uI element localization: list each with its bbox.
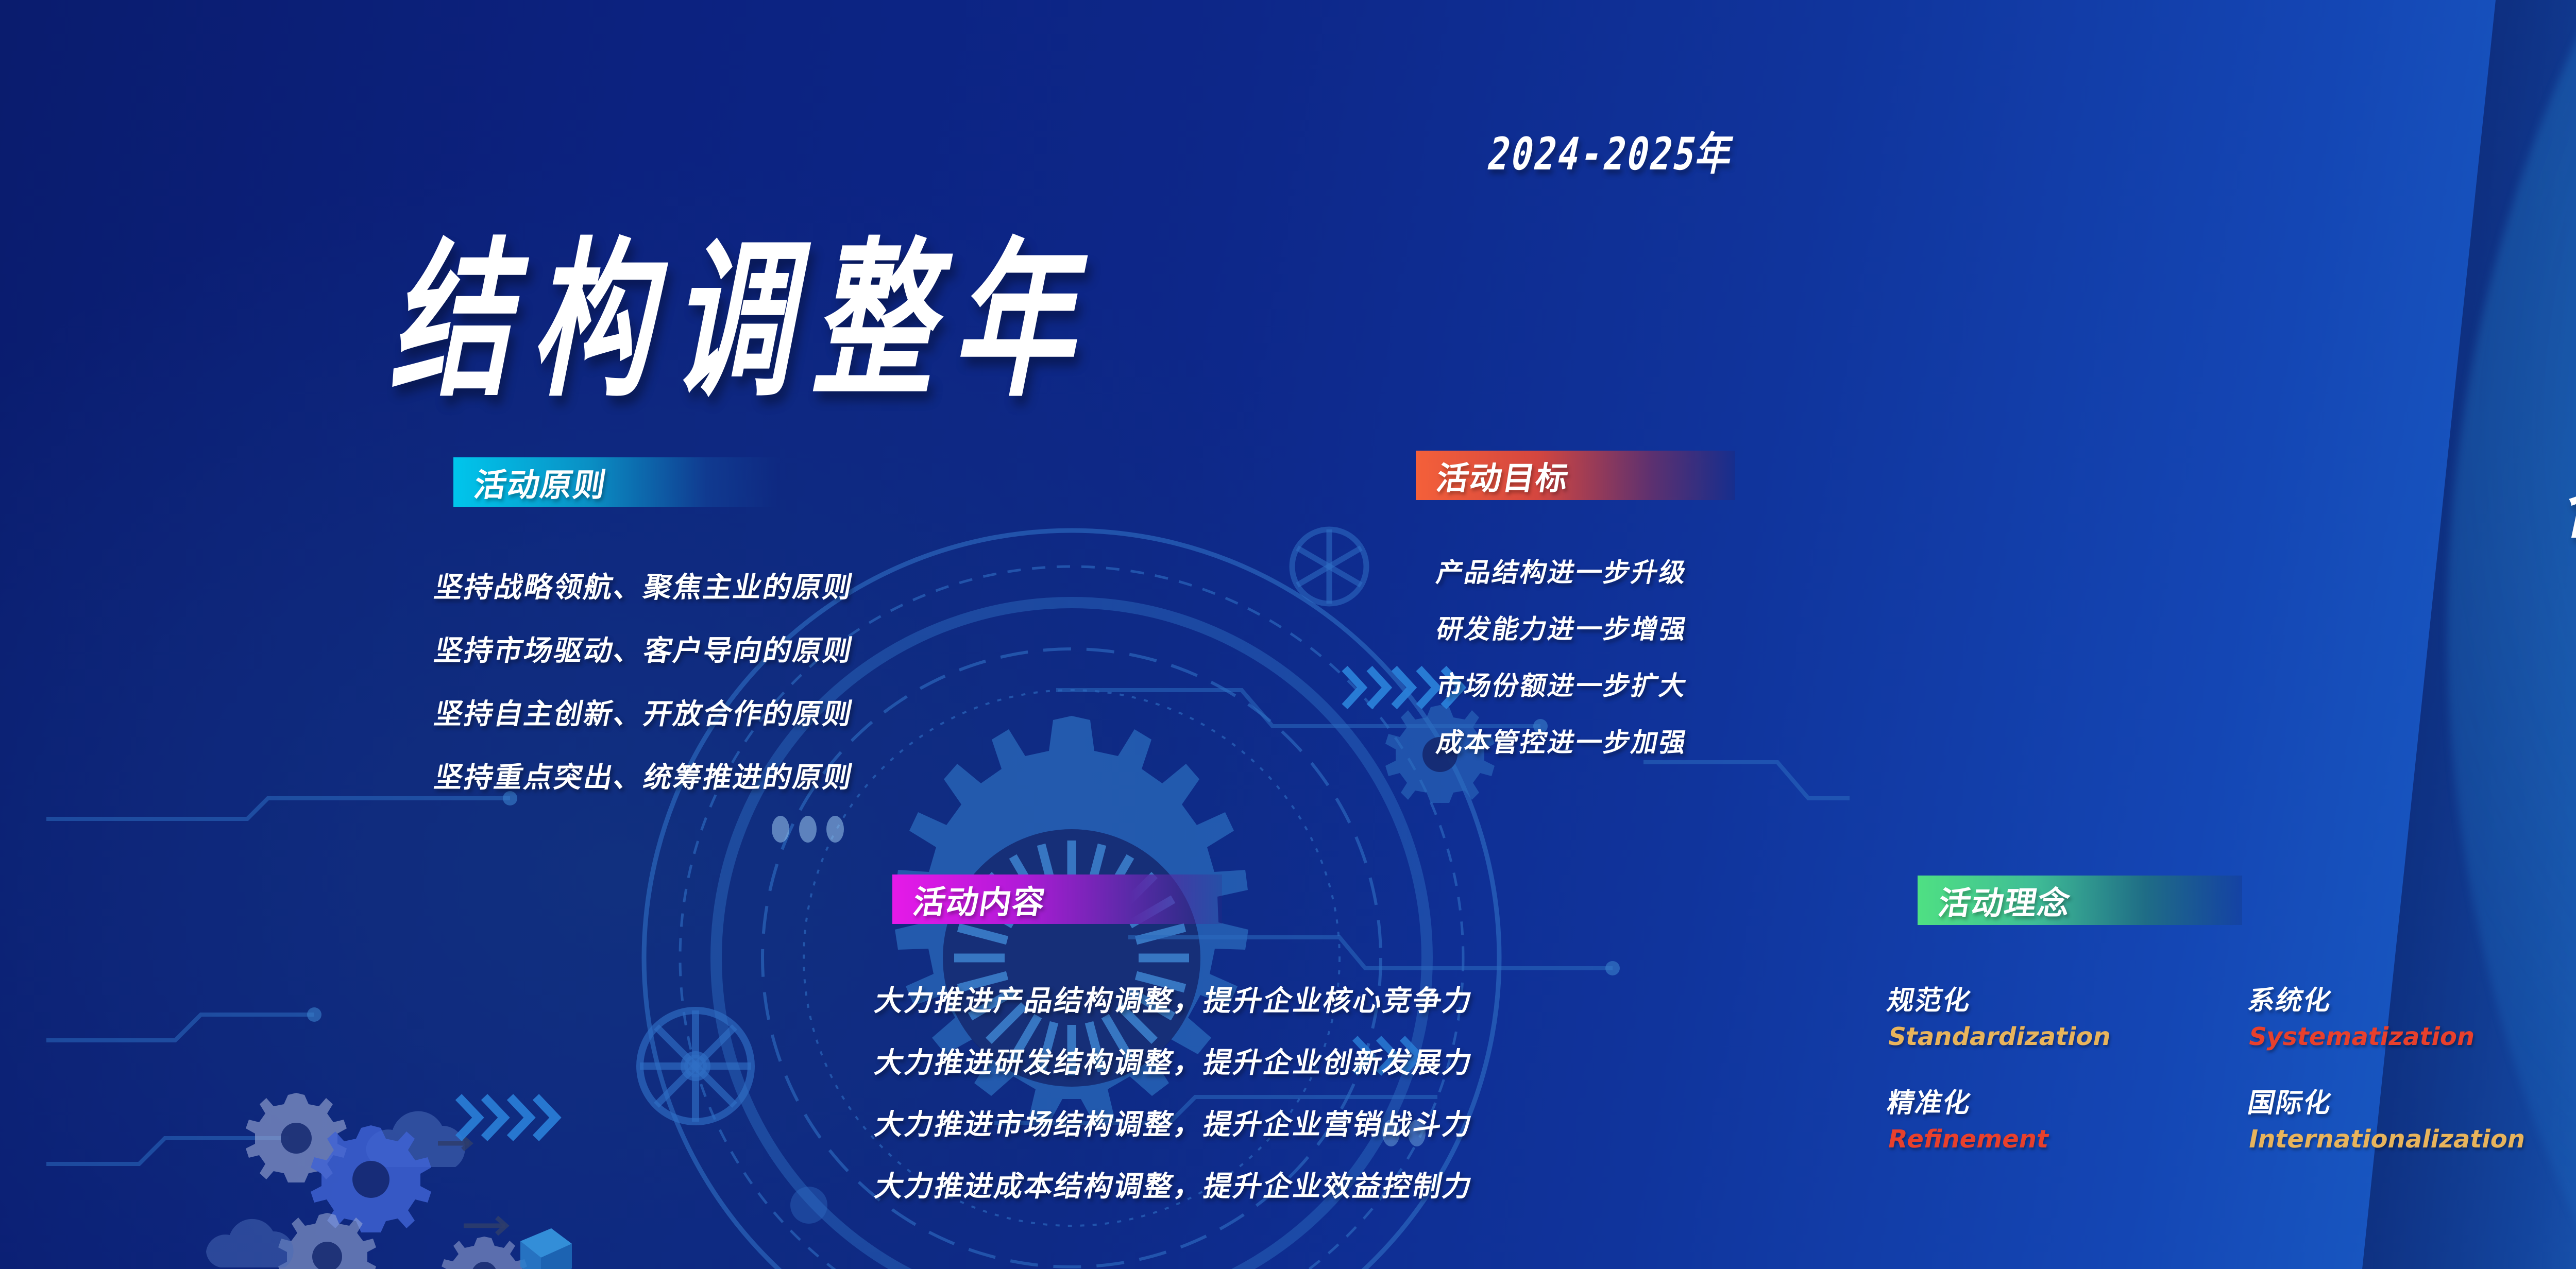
year-label: 2024-2025年 xyxy=(1483,117,1742,183)
list-item: 市场份额进一步扩大 xyxy=(1434,664,1691,702)
list-item: 产品结构进一步升级 xyxy=(1434,551,1691,589)
idea-label-cn: 国际化 xyxy=(2245,1081,2576,1120)
gear-cluster-graphic xyxy=(196,1040,711,1269)
content-list: 大力推进产品结构调整，提升企业核心竞争力 大力推进研发结构调整，提升企业创新发展… xyxy=(876,978,1473,1225)
idea-label-cn: 系统化 xyxy=(2245,979,2576,1017)
poster-canvas: 2024-2025年 结构调整年 活动原则 坚持战略领航、聚焦主业的原则 坚持市… xyxy=(0,0,2576,1269)
section-badge-goals: 活动目标 xyxy=(1416,451,1735,500)
list-item: 研发能力进一步增强 xyxy=(1434,608,1691,646)
cube-icon xyxy=(520,1228,572,1269)
list-item: 大力推进市场结构调整，提升企业营销战斗力 xyxy=(872,1101,1478,1142)
idea-label-cn: 精准化 xyxy=(1885,1081,2253,1120)
principles-list: 坚持战略领航、聚焦主业的原则 坚持市场驱动、客户导向的原则 坚持自主创新、开放合… xyxy=(435,564,854,817)
list-item: 坚持自主创新、开放合作的原则 xyxy=(431,691,858,732)
idea-label-en: Systematization xyxy=(2246,1022,2576,1051)
chevron-group-icon xyxy=(459,1097,555,1138)
list-item: 大力推进成本结构调整，提升企业效益控制力 xyxy=(872,1163,1478,1204)
idea-item: 系统化 Systematization xyxy=(2249,979,2576,1051)
section-badge-principles: 活动原则 xyxy=(453,457,778,507)
list-item: 坚持重点突出、统筹推进的原则 xyxy=(431,754,858,795)
list-item: 坚持战略领航、聚焦主业的原则 xyxy=(431,564,858,605)
section-badge-ideas-label: 活动理念 xyxy=(1936,877,2075,923)
ideas-grid: 规范化 Standardization 系统化 Systematization … xyxy=(1888,979,2576,1154)
list-item: 坚持市场驱动、客户导向的原则 xyxy=(431,627,858,668)
slogan-ellipses-decoration xyxy=(2550,216,2576,525)
list-item: 大力推进研发结构调整，提升企业创新发展力 xyxy=(872,1039,1478,1081)
section-badge-principles-label: 活动原则 xyxy=(471,459,611,505)
cloud-icon xyxy=(206,1219,294,1267)
idea-item: 精准化 Refinement xyxy=(1888,1081,2249,1154)
section-badge-ideas: 活动理念 xyxy=(1918,876,2242,925)
idea-item: 规范化 Standardization xyxy=(1888,979,2249,1051)
idea-label-en: Standardization xyxy=(1886,1022,2252,1051)
idea-label-en: Refinement xyxy=(1886,1125,2252,1154)
goals-list: 产品结构进一步升级 研发能力进一步增强 市场份额进一步扩大 成本管控进一步加强 xyxy=(1437,551,1688,778)
gear-icon xyxy=(442,1237,527,1269)
idea-label-en: Internationalization xyxy=(2246,1125,2576,1154)
list-item: 成本管控进一步加强 xyxy=(1434,721,1691,759)
page-title: 结构调整年 xyxy=(380,183,1131,428)
idea-item: 国际化 Internationalization xyxy=(2249,1081,2576,1154)
idea-label-cn: 规范化 xyxy=(1885,979,2253,1017)
section-badge-goals-label: 活动目标 xyxy=(1434,452,1573,499)
list-item: 大力推进产品结构调整，提升企业核心竞争力 xyxy=(872,978,1478,1019)
section-badge-content-label: 活动内容 xyxy=(910,876,1049,922)
section-badge-content: 活动内容 xyxy=(892,874,1222,924)
